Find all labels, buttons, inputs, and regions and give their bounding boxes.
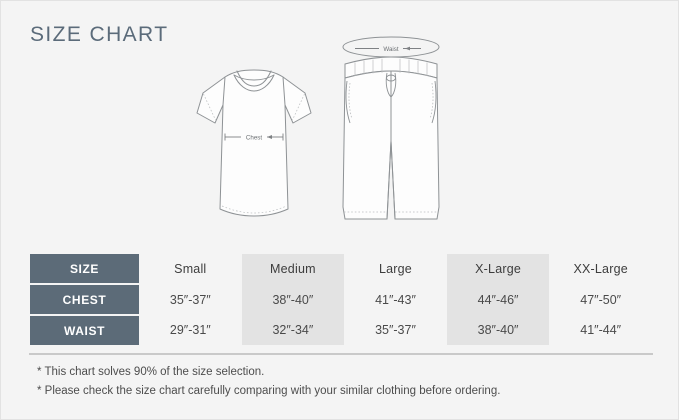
footnote-2: * Please check the size chart carefully … xyxy=(37,382,637,401)
row-label-size: SIZE xyxy=(30,254,139,284)
column-header-small: Small xyxy=(139,254,242,284)
table-row-chest: CHEST 35″-37″ 38″-40″ 41″-43″ 44″-46″ 47… xyxy=(30,284,652,315)
cell-chest-medium: 38″-40″ xyxy=(242,284,345,315)
table-row-waist: WAIST 29″-31″ 32″-34″ 35″-37″ 38″-40″ 41… xyxy=(30,315,652,345)
column-header-x-large: X-Large xyxy=(447,254,550,284)
column-header-xx-large: XX-Large xyxy=(549,254,652,284)
row-label-chest: CHEST xyxy=(30,284,139,315)
t-shirt-illustration: Chest xyxy=(189,59,319,239)
cell-chest-x-large: 44″-46″ xyxy=(447,284,550,315)
column-header-medium: Medium xyxy=(242,254,345,284)
cell-waist-large: 35″-37″ xyxy=(344,315,447,345)
column-header-large: Large xyxy=(344,254,447,284)
cell-waist-xx-large: 41″-44″ xyxy=(549,315,652,345)
cell-chest-small: 35″-37″ xyxy=(139,284,242,315)
footnote-divider xyxy=(29,353,653,355)
illustration-group: Chest xyxy=(1,31,679,246)
chest-measurement-label: Chest xyxy=(246,135,262,142)
size-chart-table: SIZE Small Medium Large X-Large XX-Large… xyxy=(30,254,652,345)
pants-illustration: Waist xyxy=(325,31,457,246)
cell-chest-large: 41″-43″ xyxy=(344,284,447,315)
cell-waist-small: 29″-31″ xyxy=(139,315,242,345)
waist-measurement-label: Waist xyxy=(383,46,399,53)
cell-chest-xx-large: 47″-50″ xyxy=(549,284,652,315)
footnote-1: * This chart solves 90% of the size sele… xyxy=(37,363,637,382)
cell-waist-medium: 32″-34″ xyxy=(242,315,345,345)
table-row-sizes: SIZE Small Medium Large X-Large XX-Large xyxy=(30,254,652,284)
footnote-group: * This chart solves 90% of the size sele… xyxy=(37,363,637,401)
row-label-waist: WAIST xyxy=(30,315,139,345)
size-chart-page: SIZE CHART xyxy=(0,0,679,420)
cell-waist-x-large: 38″-40″ xyxy=(447,315,550,345)
